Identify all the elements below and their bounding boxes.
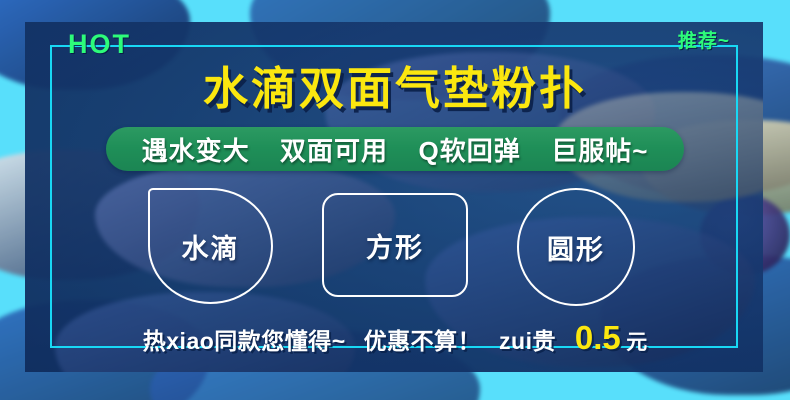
shape-badge-circle[interactable]: 圆形 [517, 188, 635, 306]
recommend-tag: 推荐~ [678, 32, 730, 51]
shape-badge-label-water-drop: 水滴 [182, 227, 240, 266]
shape-badge-label-circle: 圆形 [547, 228, 605, 267]
hot-badge: HOT [68, 31, 131, 58]
shape-badge-label-square: 方形 [366, 226, 424, 265]
shape-badge-water-drop[interactable]: 水滴 [148, 188, 273, 304]
promo-lead-text: 热xiao同款您懂得~ [143, 328, 346, 354]
promo-line: 热xiao同款您懂得~ 优惠不算！ zui贵 0.5 元 [0, 321, 790, 354]
promo-mid-text: 优惠不算！ [364, 328, 482, 354]
promo-price-value: 0.5 [575, 319, 621, 356]
shape-badge-square[interactable]: 方形 [322, 193, 468, 297]
feature-2: 双面可用 [280, 136, 388, 166]
main-title: 水滴双面气垫粉扑 [0, 64, 790, 114]
feature-pill: 遇水变大 双面可用 Q软回弹 巨服帖~ [106, 127, 684, 171]
feature-4: 巨服帖~ [551, 136, 648, 166]
promo-price-unit: 元 [626, 331, 647, 354]
shape-badge-group: 水滴 方形 圆形 [0, 188, 790, 308]
promo-banner: HOT 推荐~ 水滴双面气垫粉扑 遇水变大 双面可用 Q软回弹 巨服帖~ 水滴 … [0, 0, 790, 400]
feature-1: 遇水变大 [142, 136, 250, 166]
promo-price-label: zui贵 [499, 328, 556, 354]
feature-3: Q软回弹 [419, 136, 521, 166]
feature-pill-text: 遇水变大 双面可用 Q软回弹 巨服帖~ [142, 131, 649, 168]
